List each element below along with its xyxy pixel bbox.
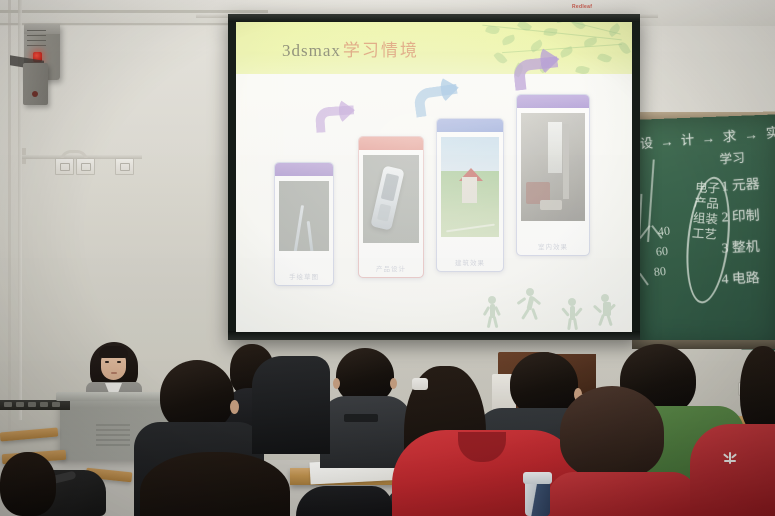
slide-panel-sketch: 手绘草图 xyxy=(274,162,334,286)
child-silhouette-2 xyxy=(520,288,542,320)
chalk-side-mark-3: 80 xyxy=(653,264,667,280)
room-pillar xyxy=(563,124,569,200)
chalk-circled-text: 电子产品组装工艺 xyxy=(690,180,721,243)
slide-title-en: 3dsmax xyxy=(282,41,341,60)
chalk-list-text-3: 整机 xyxy=(732,238,761,255)
speaker-lower-module xyxy=(23,63,48,105)
children-silhouette-group xyxy=(478,284,626,326)
panel-2-bar xyxy=(359,137,423,150)
panel-4-caption: 室内效果 xyxy=(517,243,589,252)
podium-vent-grille xyxy=(96,424,130,448)
slide-panel-interior: 室内效果 xyxy=(516,94,590,256)
panel-3-caption: 建筑效果 xyxy=(437,259,503,268)
chalk-list-text-2: 印制 xyxy=(732,207,761,224)
panel-4-artwork xyxy=(521,113,585,221)
presenter-fringe xyxy=(99,346,128,358)
chalk-side-mark-2: 60 xyxy=(655,244,669,260)
slide-panel-exterior: 建筑效果 xyxy=(436,118,504,272)
chalk-list-text-4: 电路 xyxy=(732,270,761,287)
chalk-top-row: 设 → 计 → 求 → 实 xyxy=(640,121,775,152)
face-mask xyxy=(412,378,428,390)
wall-outlet-3[interactable] xyxy=(115,158,134,175)
child-silhouette-4 xyxy=(596,294,616,324)
panel-3-artwork xyxy=(441,137,499,237)
thermos-cap[interactable] xyxy=(523,472,552,484)
chalk-list-item-4: 4 电路 xyxy=(721,267,760,288)
house-body-shape xyxy=(462,177,477,203)
speaker-top-face xyxy=(24,24,60,34)
projected-slide: 3dsmax学习情境 手绘草图 产品设计 xyxy=(236,22,632,332)
room-window xyxy=(548,122,562,174)
panel-1-caption: 手绘草图 xyxy=(275,273,333,282)
speaker-status-dot xyxy=(32,91,38,97)
control-desk-knobs[interactable] xyxy=(4,402,66,407)
wall-outlet-2[interactable] xyxy=(76,158,95,175)
screen-brand-label: Redleaf xyxy=(572,4,592,10)
slide-panel-product: 产品设计 xyxy=(358,136,424,278)
panel-1-bar xyxy=(275,163,333,176)
child-silhouette-1 xyxy=(484,296,502,324)
presenter-mouth xyxy=(111,372,117,374)
slide-title: 3dsmax学习情境 xyxy=(282,36,419,61)
speaker-grille xyxy=(27,30,46,31)
north-face-logo-icon xyxy=(722,452,738,464)
ceiling-edge-line xyxy=(0,10,268,13)
pencil-shape xyxy=(293,205,304,251)
phone-keypad xyxy=(377,204,391,222)
presenter-eye-right xyxy=(117,361,121,363)
presenter-eye-left xyxy=(105,361,109,363)
slide-title-cn: 学习情境 xyxy=(343,41,419,60)
chalk-sub-row: 学习 xyxy=(719,148,745,167)
classroom-photo: 设 → 计 → 求 → 实 学习 电子产品组装工艺 40 60 80 1 元器 … xyxy=(0,0,775,516)
phone-render xyxy=(370,165,404,230)
chalk-list-text-1: 元器 xyxy=(732,176,761,193)
blackboard: 设 → 计 → 求 → 实 学习 电子产品组装工艺 40 60 80 1 元器 … xyxy=(632,114,775,351)
panel-4-bar xyxy=(517,95,589,108)
chalk-list-item-1: 1 元器 xyxy=(721,173,760,195)
room-table xyxy=(540,200,562,210)
panel-3-bar xyxy=(437,119,503,132)
panel-2-caption: 产品设计 xyxy=(359,265,423,274)
pencil-shape-2 xyxy=(307,221,315,251)
panel-1-artwork xyxy=(279,181,329,251)
phone-screen xyxy=(381,173,400,201)
child-silhouette-3 xyxy=(564,298,582,326)
panel-2-artwork xyxy=(363,155,419,243)
chalk-side-mark-1: 40 xyxy=(657,223,671,239)
wall-outlet-1[interactable] xyxy=(55,158,74,175)
